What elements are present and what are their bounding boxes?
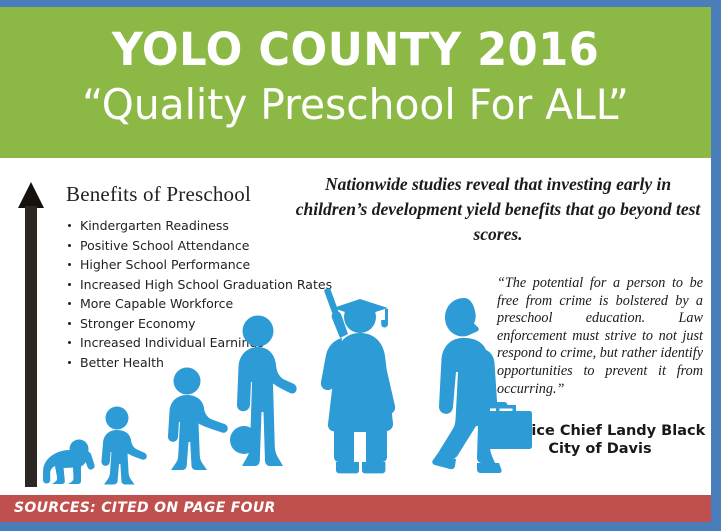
frame-border-right xyxy=(711,0,721,531)
frame-border-bottom xyxy=(0,522,721,531)
growth-progression-illustration xyxy=(0,268,711,493)
crawling-baby-silhouette xyxy=(43,440,95,485)
infographic-poster: YOLO COUNTY 2016 “Quality Preschool For … xyxy=(0,0,721,531)
page-title: YOLO COUNTY 2016 xyxy=(14,7,697,72)
sources-text: SOURCES: CITED ON PAGE FOUR xyxy=(14,500,276,516)
tagline-text: Nationwide studies reveal that investing… xyxy=(288,172,708,247)
sources-footer-bar: SOURCES: CITED ON PAGE FOUR xyxy=(0,495,711,522)
header-banner: YOLO COUNTY 2016 “Quality Preschool For … xyxy=(0,7,711,158)
arrow-head xyxy=(18,182,44,208)
page-subtitle: “Quality Preschool For ALL” xyxy=(11,72,701,126)
adult-with-briefcase-silhouette xyxy=(432,298,532,473)
toddler-silhouette xyxy=(101,407,146,485)
frame-border-top xyxy=(0,0,721,7)
graduate-silhouette xyxy=(321,288,395,474)
